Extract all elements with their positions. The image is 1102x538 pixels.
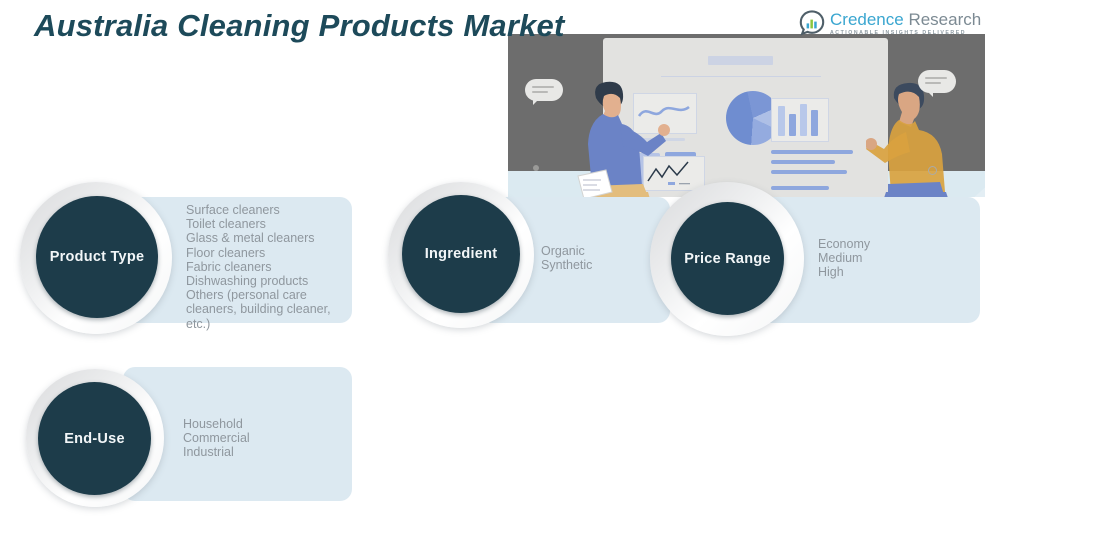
man-presenter: [866, 76, 976, 197]
segment-circle-ingredient[interactable]: Ingredient: [402, 195, 520, 313]
bubble-left-line-2: [532, 91, 548, 93]
bar-chart-panel: [771, 98, 829, 142]
bar-4: [811, 110, 818, 136]
credence-research-logo[interactable]: Credence Research Actionable Insights De…: [799, 10, 981, 36]
segment-circle-product-type[interactable]: Product Type: [36, 196, 158, 318]
board-text-line-2: [771, 150, 853, 154]
segment-items-end-use: Household Commercial Industrial: [183, 417, 353, 460]
decor-circle-outline: [928, 166, 937, 175]
bar-3: [800, 104, 807, 136]
segment-label-end-use: End-Use: [64, 431, 125, 447]
bubble-left-line-1: [532, 86, 554, 88]
bubble-right-line-1: [925, 77, 947, 79]
logo-tagline: Actionable Insights Delivered: [830, 30, 981, 36]
bar-2: [789, 114, 796, 136]
page-title: Australia Cleaning Products Market: [34, 8, 565, 44]
logo-brand-name: Credence Research: [830, 11, 981, 28]
segment-label-product-type: Product Type: [50, 249, 145, 265]
woman-presenter: [560, 74, 675, 197]
board-text-line-4: [771, 170, 847, 174]
bar-1: [778, 106, 785, 136]
segment-product-type[interactable]: Surface cleaners Toilet cleaners Glass &…: [20, 182, 370, 352]
segment-items-price-range: Economy Medium High: [818, 237, 968, 280]
speech-bubble-left: [525, 79, 563, 101]
infographic-canvas: Australia Cleaning Products Market Crede…: [0, 0, 1102, 538]
segment-circle-price-range[interactable]: Price Range: [671, 202, 784, 315]
segment-items-ingredient: Organic Synthetic: [541, 244, 661, 272]
decor-dot: [533, 165, 539, 171]
segment-price-range[interactable]: Economy Medium High Price Range: [650, 182, 990, 342]
segment-label-ingredient: Ingredient: [425, 246, 498, 262]
segment-circle-end-use[interactable]: End-Use: [38, 382, 151, 495]
logo-brand-primary: Credence: [830, 10, 904, 29]
bar-chart-speech-bubble-icon: [799, 10, 825, 36]
logo-text-block: Credence Research Actionable Insights De…: [830, 10, 981, 36]
segment-items-product-type: Surface cleaners Toilet cleaners Glass &…: [186, 203, 356, 331]
segment-label-price-range: Price Range: [684, 251, 771, 267]
segment-end-use[interactable]: Household Commercial Industrial End-Use: [20, 355, 370, 520]
segment-ingredient[interactable]: Organic Synthetic Ingredient: [388, 182, 648, 342]
logo-brand-secondary: Research: [908, 10, 981, 29]
board-divider: [661, 76, 821, 77]
bubble-right-line-2: [925, 82, 941, 84]
board-title-bar: [708, 56, 773, 65]
speech-bubble-right: [918, 70, 956, 93]
business-analytics-presentation-illustration: [508, 34, 985, 197]
board-text-line-3: [771, 160, 835, 164]
